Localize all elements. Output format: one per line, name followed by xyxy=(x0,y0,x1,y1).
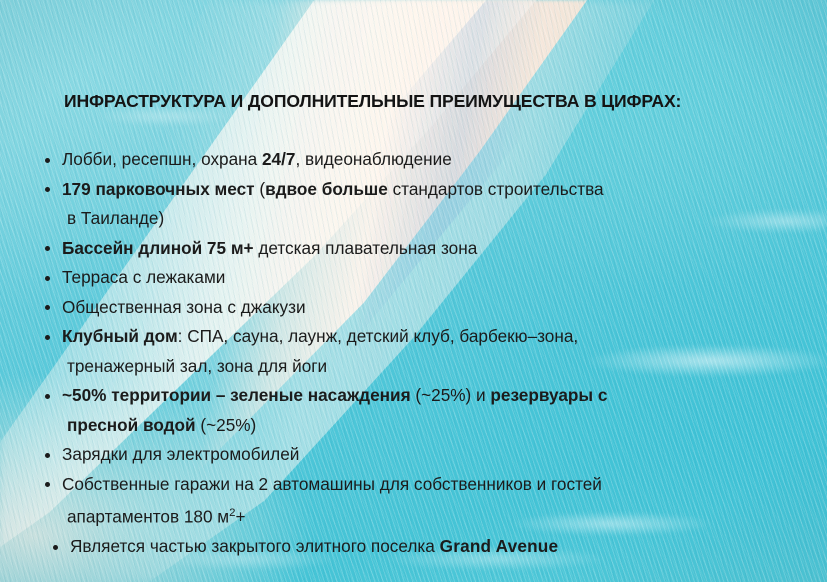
text-run: детская плавательная зона xyxy=(254,238,478,258)
list-item-line: Лобби, ресепшн, охрана 24/7, видеонаблюд… xyxy=(62,145,803,175)
page-title: ИНФРАСТРУКТУРА И ДОПОЛНИТЕЛЬНЫЕ ПРЕИМУЩЕ… xyxy=(64,91,681,112)
list-item-green-areas-and-reservoirs: ~50% территории – зеленые насаждения (~2… xyxy=(40,381,803,440)
list-item-line: Общественная зона с джакузи xyxy=(62,293,803,323)
text-run: : СПА, сауна, лаунж, детский клуб, барбе… xyxy=(178,326,579,346)
text-run: , видеонаблюдение xyxy=(295,149,451,169)
text-run: Grand Avenue xyxy=(440,536,559,556)
text-run: Клубный дом xyxy=(62,326,178,346)
text-run: резервуары с xyxy=(490,385,607,405)
text-run: Лобби, ресепшн, охрана xyxy=(62,149,262,169)
list-item-lobby-reception-security: Лобби, ресепшн, охрана 24/7, видеонаблюд… xyxy=(40,145,803,175)
list-item-club-house: Клубный дом: СПА, сауна, лаунж, детский … xyxy=(40,322,803,381)
list-item-line: в Таиланде) xyxy=(62,204,803,234)
text-run: 179 парковочных мест xyxy=(62,179,255,199)
list-item-line: Клубный дом: СПА, сауна, лаунж, детский … xyxy=(62,322,803,352)
text-run: пресной водой xyxy=(67,415,196,435)
text-run: ( xyxy=(255,179,266,199)
text-run: Терраса с лежаками xyxy=(62,267,225,287)
list-item-line: Является частью закрытого элитного посел… xyxy=(70,532,803,562)
text-run: Общественная зона с джакузи xyxy=(62,297,306,317)
text-run: 24/7 xyxy=(262,149,295,169)
text-run: (~25%) xyxy=(196,415,257,435)
text-run: (~25%) и xyxy=(411,385,491,405)
text-run: + xyxy=(235,507,245,527)
list-item-parking-spaces: 179 парковочных мест (вдвое больше станд… xyxy=(40,175,803,234)
list-item-sun-loungers-terrace: Терраса с лежаками xyxy=(40,263,803,293)
list-item-pool-length: Бассейн длиной 75 м+ детская плавательна… xyxy=(40,234,803,264)
infrastructure-benefits-slide: ИНФРАСТРУКТУРА И ДОПОЛНИТЕЛЬНЫЕ ПРЕИМУЩЕ… xyxy=(0,0,827,582)
text-run: ~50% территории – зеленые насаждения xyxy=(62,385,411,405)
list-item-grand-avenue-community: Является частью закрытого элитного посел… xyxy=(40,532,803,562)
list-item-line: Бассейн длиной 75 м+ детская плавательна… xyxy=(62,234,803,264)
text-run: апартаментов 180 м xyxy=(67,507,229,527)
list-item-line: апартаментов 180 м2+ xyxy=(62,499,803,532)
list-item-line: тренажерный зал, зона для йоги xyxy=(62,352,803,382)
list-item-line: 179 парковочных мест (вдвое больше станд… xyxy=(62,175,803,205)
text-run: вдвое больше xyxy=(265,179,388,199)
text-run: Является частью закрытого элитного посел… xyxy=(70,536,440,556)
text-run: стандартов строительства xyxy=(388,179,604,199)
list-item-line: Терраса с лежаками xyxy=(62,263,803,293)
text-run: в Таиланде) xyxy=(67,208,164,228)
text-run: Зарядки для электромобилей xyxy=(62,444,299,464)
benefits-list: Лобби, ресепшн, охрана 24/7, видеонаблюд… xyxy=(40,145,803,562)
list-item-jacuzzi-public-zone: Общественная зона с джакузи xyxy=(40,293,803,323)
text-run: тренажерный зал, зона для йоги xyxy=(67,356,327,376)
list-item-private-garages: Собственные гаражи на 2 автомашины для с… xyxy=(40,470,803,533)
list-item-line: пресной водой (~25%) xyxy=(62,411,803,441)
list-item-line: Собственные гаражи на 2 автомашины для с… xyxy=(62,470,803,500)
list-item-ev-chargers: Зарядки для электромобилей xyxy=(40,440,803,470)
text-run: Собственные гаражи на 2 автомашины для с… xyxy=(62,474,602,494)
list-item-line: Зарядки для электромобилей xyxy=(62,440,803,470)
text-run: Бассейн длиной 75 м+ xyxy=(62,238,254,258)
list-item-line: ~50% территории – зеленые насаждения (~2… xyxy=(62,381,803,411)
slide-content: ИНФРАСТРУКТУРА И ДОПОЛНИТЕЛЬНЫЕ ПРЕИМУЩЕ… xyxy=(0,0,827,582)
